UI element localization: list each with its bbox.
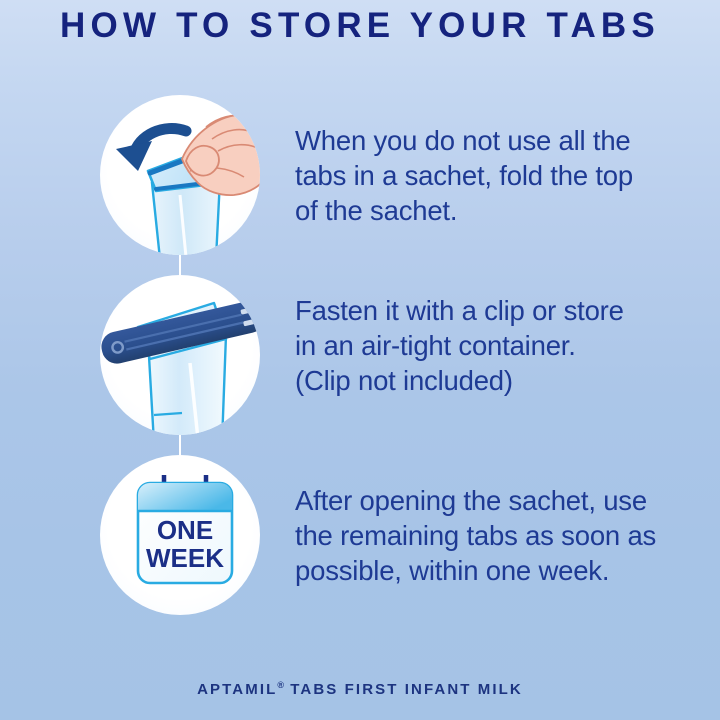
step-item-2: Fasten it with a clip or store in an air… bbox=[0, 275, 720, 455]
step-3-illustration: ONE WEEK bbox=[100, 455, 260, 615]
step-2-illustration bbox=[100, 275, 260, 435]
step-3-text: After opening the sachet, use the remain… bbox=[295, 483, 655, 588]
step-1-line-3: of the sachet. bbox=[295, 193, 655, 228]
connector-line-2-3 bbox=[179, 435, 181, 457]
step-2-line-3: (Clip not included) bbox=[295, 363, 655, 398]
step-1-line-1: When you do not use all the bbox=[295, 123, 655, 158]
connector-line-1-2 bbox=[179, 255, 181, 277]
step-1-illustration bbox=[100, 95, 260, 255]
footer-brand: APTAMIL bbox=[197, 681, 277, 698]
step-2-circle bbox=[100, 275, 260, 435]
step-item-1: When you do not use all the tabs in a sa… bbox=[0, 95, 720, 275]
footer-product-name: APTAMIL® TABS FIRST INFANT MILK bbox=[0, 680, 720, 698]
footer-rest: TABS FIRST INFANT MILK bbox=[284, 681, 523, 698]
step-1-line-2: tabs in a sachet, fold the top bbox=[295, 158, 655, 193]
step-2-line-1: Fasten it with a clip or store bbox=[295, 293, 655, 328]
step-1-circle bbox=[100, 95, 260, 255]
step-item-3: ONE WEEK After opening the sachet, use t… bbox=[0, 455, 720, 635]
step-3-line-1: After opening the sachet, use bbox=[295, 483, 655, 518]
step-2-text: Fasten it with a clip or store in an air… bbox=[295, 293, 655, 398]
step-2-line-2: in an air-tight container. bbox=[295, 328, 655, 363]
page-title: HOW TO STORE YOUR TABS bbox=[0, 6, 720, 46]
steps-list: When you do not use all the tabs in a sa… bbox=[0, 95, 720, 635]
step-3-line-3: possible, within one week. bbox=[295, 553, 655, 588]
infographic-poster: HOW TO STORE YOUR TABS bbox=[0, 0, 720, 720]
step-1-text: When you do not use all the tabs in a sa… bbox=[295, 123, 655, 228]
step-3-circle bbox=[100, 455, 260, 615]
step-3-line-2: the remaining tabs as soon as bbox=[295, 518, 655, 553]
